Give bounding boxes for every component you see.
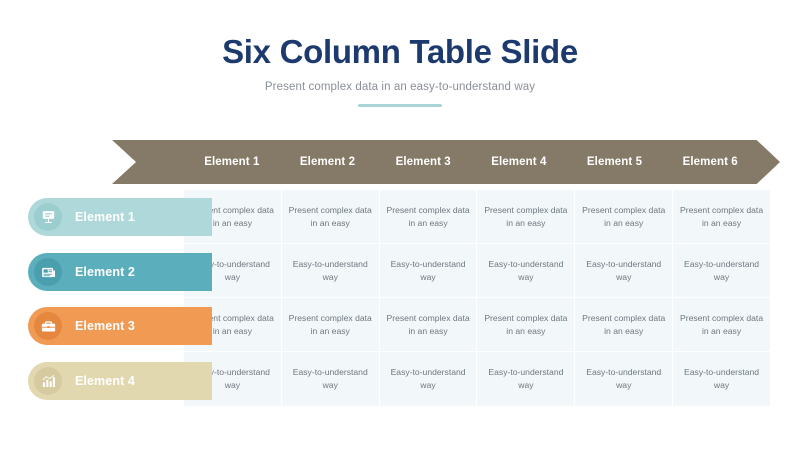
column-header-5: Element 5 [567, 156, 663, 168]
table-cell: Present complex data in an easy [477, 298, 575, 351]
table-row: Present complex data in an easy Present … [184, 298, 770, 352]
bar-chart-icon [34, 367, 62, 395]
table-cell: Present complex data in an easy [380, 190, 478, 243]
table-cell: Easy-to-understand way [380, 352, 478, 406]
row-label-element-2[interactable]: Element 2 [28, 253, 212, 291]
table-row: Easy-to-understand way Easy-to-understan… [184, 244, 770, 298]
row-label-text: Element 3 [75, 319, 135, 333]
table-cell: Present complex data in an easy [673, 298, 770, 351]
table-row: Easy-to-understand way Easy-to-understan… [184, 352, 770, 406]
table-cell: Easy-to-understand way [477, 352, 575, 406]
row-label-element-4[interactable]: Element 4 [28, 362, 212, 400]
table-cell: Easy-to-understand way [380, 244, 478, 297]
column-header-2: Element 2 [280, 156, 376, 168]
table-cell: Easy-to-understand way [282, 352, 380, 406]
row-label-element-3[interactable]: Element 3 [28, 307, 212, 345]
title-block: Six Column Table Slide Present complex d… [0, 34, 800, 107]
table-cell: Present complex data in an easy [673, 190, 770, 243]
table-cell: Easy-to-understand way [673, 244, 770, 297]
table-cell: Present complex data in an easy [282, 190, 380, 243]
page-subtitle: Present complex data in an easy-to-under… [0, 81, 800, 93]
table-cell: Easy-to-understand way [673, 352, 770, 406]
table-cell: Easy-to-understand way [282, 244, 380, 297]
table-cell: Easy-to-understand way [575, 352, 673, 406]
table-cell: Present complex data in an easy [380, 298, 478, 351]
column-header-3: Element 3 [375, 156, 471, 168]
newspaper-icon [34, 258, 62, 286]
table-header-arrow-band: Element 1 Element 2 Element 3 Element 4 … [112, 140, 780, 184]
row-label-text: Element 1 [75, 210, 135, 224]
presentation-board-icon [34, 203, 62, 231]
row-label-text: Element 4 [75, 374, 135, 388]
table-cell: Present complex data in an easy [575, 190, 673, 243]
table-cell: Easy-to-understand way [477, 244, 575, 297]
slide-canvas: Six Column Table Slide Present complex d… [0, 0, 800, 450]
column-header-6: Element 6 [662, 156, 780, 168]
table-cell: Present complex data in an easy [282, 298, 380, 351]
table-cell: Present complex data in an easy [477, 190, 575, 243]
briefcase-icon [34, 312, 62, 340]
title-underline-rule [358, 104, 442, 107]
row-label-element-1[interactable]: Element 1 [28, 198, 212, 236]
table-row: Present complex data in an easy Present … [184, 190, 770, 244]
column-header-4: Element 4 [471, 156, 567, 168]
row-label-text: Element 2 [75, 265, 135, 279]
page-title: Six Column Table Slide [0, 34, 800, 71]
column-header-1: Element 1 [184, 156, 280, 168]
table-cell: Present complex data in an easy [575, 298, 673, 351]
table-body: Present complex data in an easy Present … [184, 190, 770, 406]
table-cell: Easy-to-understand way [575, 244, 673, 297]
